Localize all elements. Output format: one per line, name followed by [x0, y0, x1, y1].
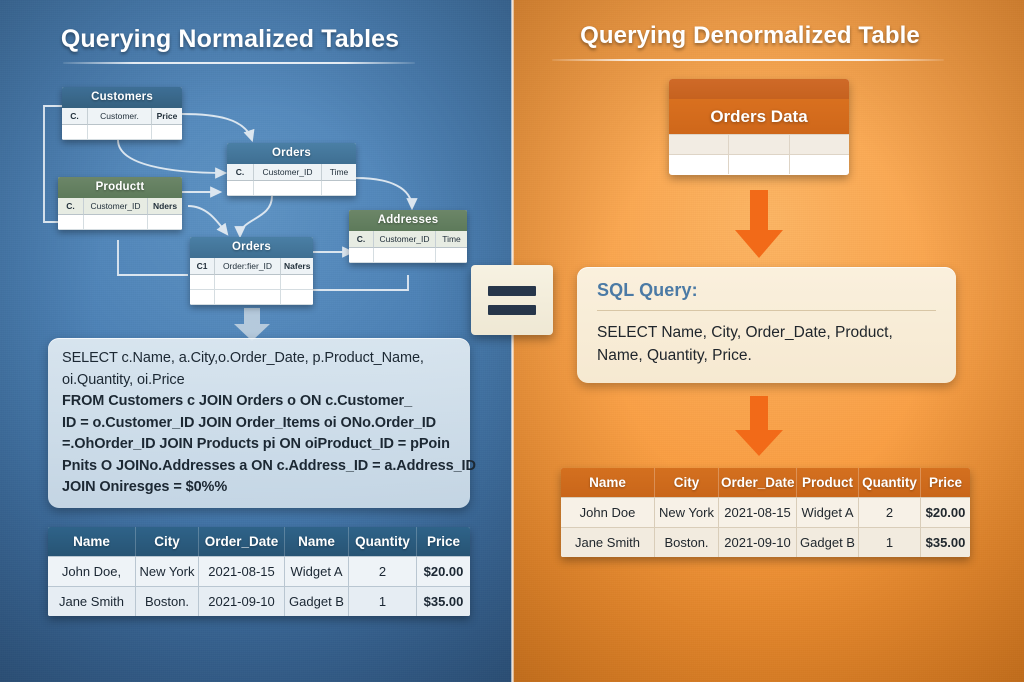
- er-table-title: Orders: [190, 237, 313, 258]
- table-cell: New York: [655, 497, 719, 527]
- column-header: Name: [285, 527, 349, 556]
- er-col-mid: Customer_ID: [84, 198, 148, 215]
- er-cell: [58, 215, 84, 230]
- er-cell: [152, 125, 182, 140]
- er-cell: [436, 248, 467, 263]
- table-cell: $20.00: [921, 497, 970, 527]
- table-row[interactable]: Jane Smith Boston. 2021-09-10 Gadget B 1…: [561, 527, 970, 557]
- er-cell: [62, 125, 88, 140]
- orders-data-title: Orders Data: [669, 99, 849, 134]
- er-col-last: Time: [436, 231, 467, 248]
- er-col-key: C.: [62, 108, 88, 125]
- er-col-key: C.: [58, 198, 84, 215]
- table-cell: 2: [349, 556, 417, 586]
- er-cell: [148, 215, 182, 230]
- er-table-title: Productt: [58, 177, 182, 198]
- sql-line: =.OhOrder_ID JOIN Products pi ON oiProdu…: [62, 434, 456, 456]
- er-empty-row: [190, 275, 313, 290]
- sql-line: Name, Quantity, Price.: [597, 344, 936, 367]
- er-cell: [190, 290, 215, 305]
- left-sql-query-box: SELECT c.Name, a.City,o.Order_Date, p.Pr…: [48, 338, 470, 508]
- er-col-key: C1: [190, 258, 215, 275]
- column-header: City: [655, 468, 719, 497]
- table-cell: $35.00: [417, 586, 470, 616]
- er-cell: [190, 275, 215, 290]
- table-row[interactable]: John Doe, New York 2021-08-15 Widget A 2…: [48, 556, 470, 586]
- card-cell: [669, 154, 729, 174]
- table-cell: 2021-08-15: [199, 556, 285, 586]
- table-cell: 2021-09-10: [719, 527, 797, 557]
- table-cell: John Doe,: [48, 556, 136, 586]
- er-cell: [227, 181, 254, 196]
- er-cell: [254, 181, 322, 196]
- sql-line: SELECT Name, City, Order_Date, Product,: [597, 321, 936, 344]
- table-cell: New York: [136, 556, 199, 586]
- table-cell: 1: [349, 586, 417, 616]
- er-column-headers: C1 Order:fier_ID Nafers: [190, 258, 313, 275]
- er-cell: [88, 125, 152, 140]
- right-flow-arrow-bottom-icon: [733, 396, 785, 458]
- table-cell: 2021-08-15: [719, 497, 797, 527]
- card-empty-row: [669, 154, 849, 174]
- er-table-customers[interactable]: Customers C. Customer. Price: [62, 87, 182, 140]
- table-cell: Boston.: [136, 586, 199, 616]
- column-header: Order_Date: [199, 527, 285, 556]
- table-cell: Widget A: [285, 556, 349, 586]
- sql-line: ID = o.Customer_ID JOIN Order_Items oi O…: [62, 413, 456, 435]
- er-empty-row: [62, 125, 182, 140]
- er-table-products[interactable]: Productt C. Customer_ID Nders: [58, 177, 182, 230]
- card-cell: [669, 134, 729, 154]
- table-cell: Gadget B: [285, 586, 349, 616]
- column-header: City: [136, 527, 199, 556]
- column-header: Order_Date: [719, 468, 797, 497]
- sql-heading-rule: [597, 310, 936, 311]
- er-col-mid: Customer_ID: [254, 164, 322, 181]
- right-title-underline: [552, 59, 944, 61]
- er-col-last: Price: [152, 108, 182, 125]
- er-column-headers: C. Customer_ID Nders: [58, 198, 182, 215]
- table-header-row: Name City Order_Date Name Quantity Price: [48, 527, 470, 556]
- infographic-stage: Querying Normalized Tables Querying Deno…: [0, 0, 1024, 682]
- table-cell: $35.00: [921, 527, 970, 557]
- card-cell: [790, 134, 849, 154]
- er-empty-row: [349, 248, 467, 263]
- card-cell: [729, 134, 789, 154]
- er-table-orders-bottom[interactable]: Orders C1 Order:fier_ID Nafers: [190, 237, 313, 305]
- sql-line: SELECT c.Name, a.City,o.Order_Date, p.Pr…: [62, 348, 456, 370]
- er-col-key: C.: [227, 164, 254, 181]
- table-cell: Jane Smith: [48, 586, 136, 616]
- er-cell: [281, 290, 313, 305]
- er-table-title: Addresses: [349, 210, 467, 231]
- er-cell: [215, 275, 281, 290]
- column-header: Quantity: [859, 468, 921, 497]
- orders-data-card[interactable]: Orders Data: [669, 79, 849, 175]
- er-cell: [322, 181, 356, 196]
- er-col-mid: Order:fier_ID: [215, 258, 281, 275]
- er-table-orders-top[interactable]: Orders C. Customer_ID Time: [227, 143, 356, 196]
- er-cell: [374, 248, 436, 263]
- table-cell: Gadget B: [797, 527, 859, 557]
- sql-line: oi.Quantity, oi.Price: [62, 370, 456, 392]
- column-header: Product: [797, 468, 859, 497]
- er-col-last: Nders: [148, 198, 182, 215]
- table-cell: Jane Smith: [561, 527, 655, 557]
- er-column-headers: C. Customer_ID Time: [349, 231, 467, 248]
- table-header-row: Name City Order_Date Product Quantity Pr…: [561, 468, 970, 497]
- er-table-addresses[interactable]: Addresses C. Customer_ID Time: [349, 210, 467, 263]
- table-row[interactable]: Jane Smith Boston. 2021-09-10 Gadget B 1…: [48, 586, 470, 616]
- er-empty-row: [190, 290, 313, 305]
- sql-query-heading: SQL Query:: [597, 280, 936, 301]
- table-cell: Widget A: [797, 497, 859, 527]
- sql-line: JOIN Oniresges = $0%%: [62, 477, 456, 499]
- card-empty-row: [669, 134, 849, 154]
- table-cell: Boston.: [655, 527, 719, 557]
- panel-divider: [511, 0, 514, 682]
- right-panel-title: Querying Denormalized Table: [540, 22, 960, 50]
- table-cell: John Doe: [561, 497, 655, 527]
- er-col-key: C.: [349, 231, 374, 248]
- column-header: Price: [417, 527, 470, 556]
- er-col-mid: Customer_ID: [374, 231, 436, 248]
- equals-bar-bottom: [488, 305, 536, 315]
- table-cell: 2021-09-10: [199, 586, 285, 616]
- column-header: Quantity: [349, 527, 417, 556]
- er-cell: [349, 248, 374, 263]
- column-header: Price: [921, 468, 970, 497]
- table-cell: $20.00: [417, 556, 470, 586]
- equals-badge: [471, 265, 553, 335]
- er-col-last: Time: [322, 164, 356, 181]
- er-cell: [215, 290, 281, 305]
- table-cell: 2: [859, 497, 921, 527]
- right-sql-query-box: SQL Query: SELECT Name, City, Order_Date…: [577, 267, 956, 383]
- er-cell: [84, 215, 148, 230]
- left-result-table[interactable]: Name City Order_Date Name Quantity Price…: [48, 527, 470, 616]
- er-col-mid: Customer.: [88, 108, 152, 125]
- er-empty-row: [58, 215, 182, 230]
- er-column-headers: C. Customer_ID Time: [227, 164, 356, 181]
- er-column-headers: C. Customer. Price: [62, 108, 182, 125]
- er-cell: [281, 275, 313, 290]
- er-empty-row: [227, 181, 356, 196]
- card-top-band: [669, 79, 849, 99]
- er-table-title: Orders: [227, 143, 356, 164]
- right-flow-arrow-top-icon: [733, 190, 785, 260]
- column-header: Name: [561, 468, 655, 497]
- equals-bar-top: [488, 286, 536, 296]
- right-result-table[interactable]: Name City Order_Date Product Quantity Pr…: [561, 468, 970, 557]
- card-cell: [790, 154, 849, 174]
- card-cell: [729, 154, 789, 174]
- table-cell: 1: [859, 527, 921, 557]
- column-header: Name: [48, 527, 136, 556]
- table-row[interactable]: John Doe New York 2021-08-15 Widget A 2 …: [561, 497, 970, 527]
- sql-line: FROM Customers c JOIN Orders o ON c.Cust…: [62, 391, 456, 413]
- sql-line: Pnits O JOINo.Addresses a ON c.Address_I…: [62, 456, 456, 478]
- er-col-last: Nafers: [281, 258, 313, 275]
- er-table-title: Customers: [62, 87, 182, 108]
